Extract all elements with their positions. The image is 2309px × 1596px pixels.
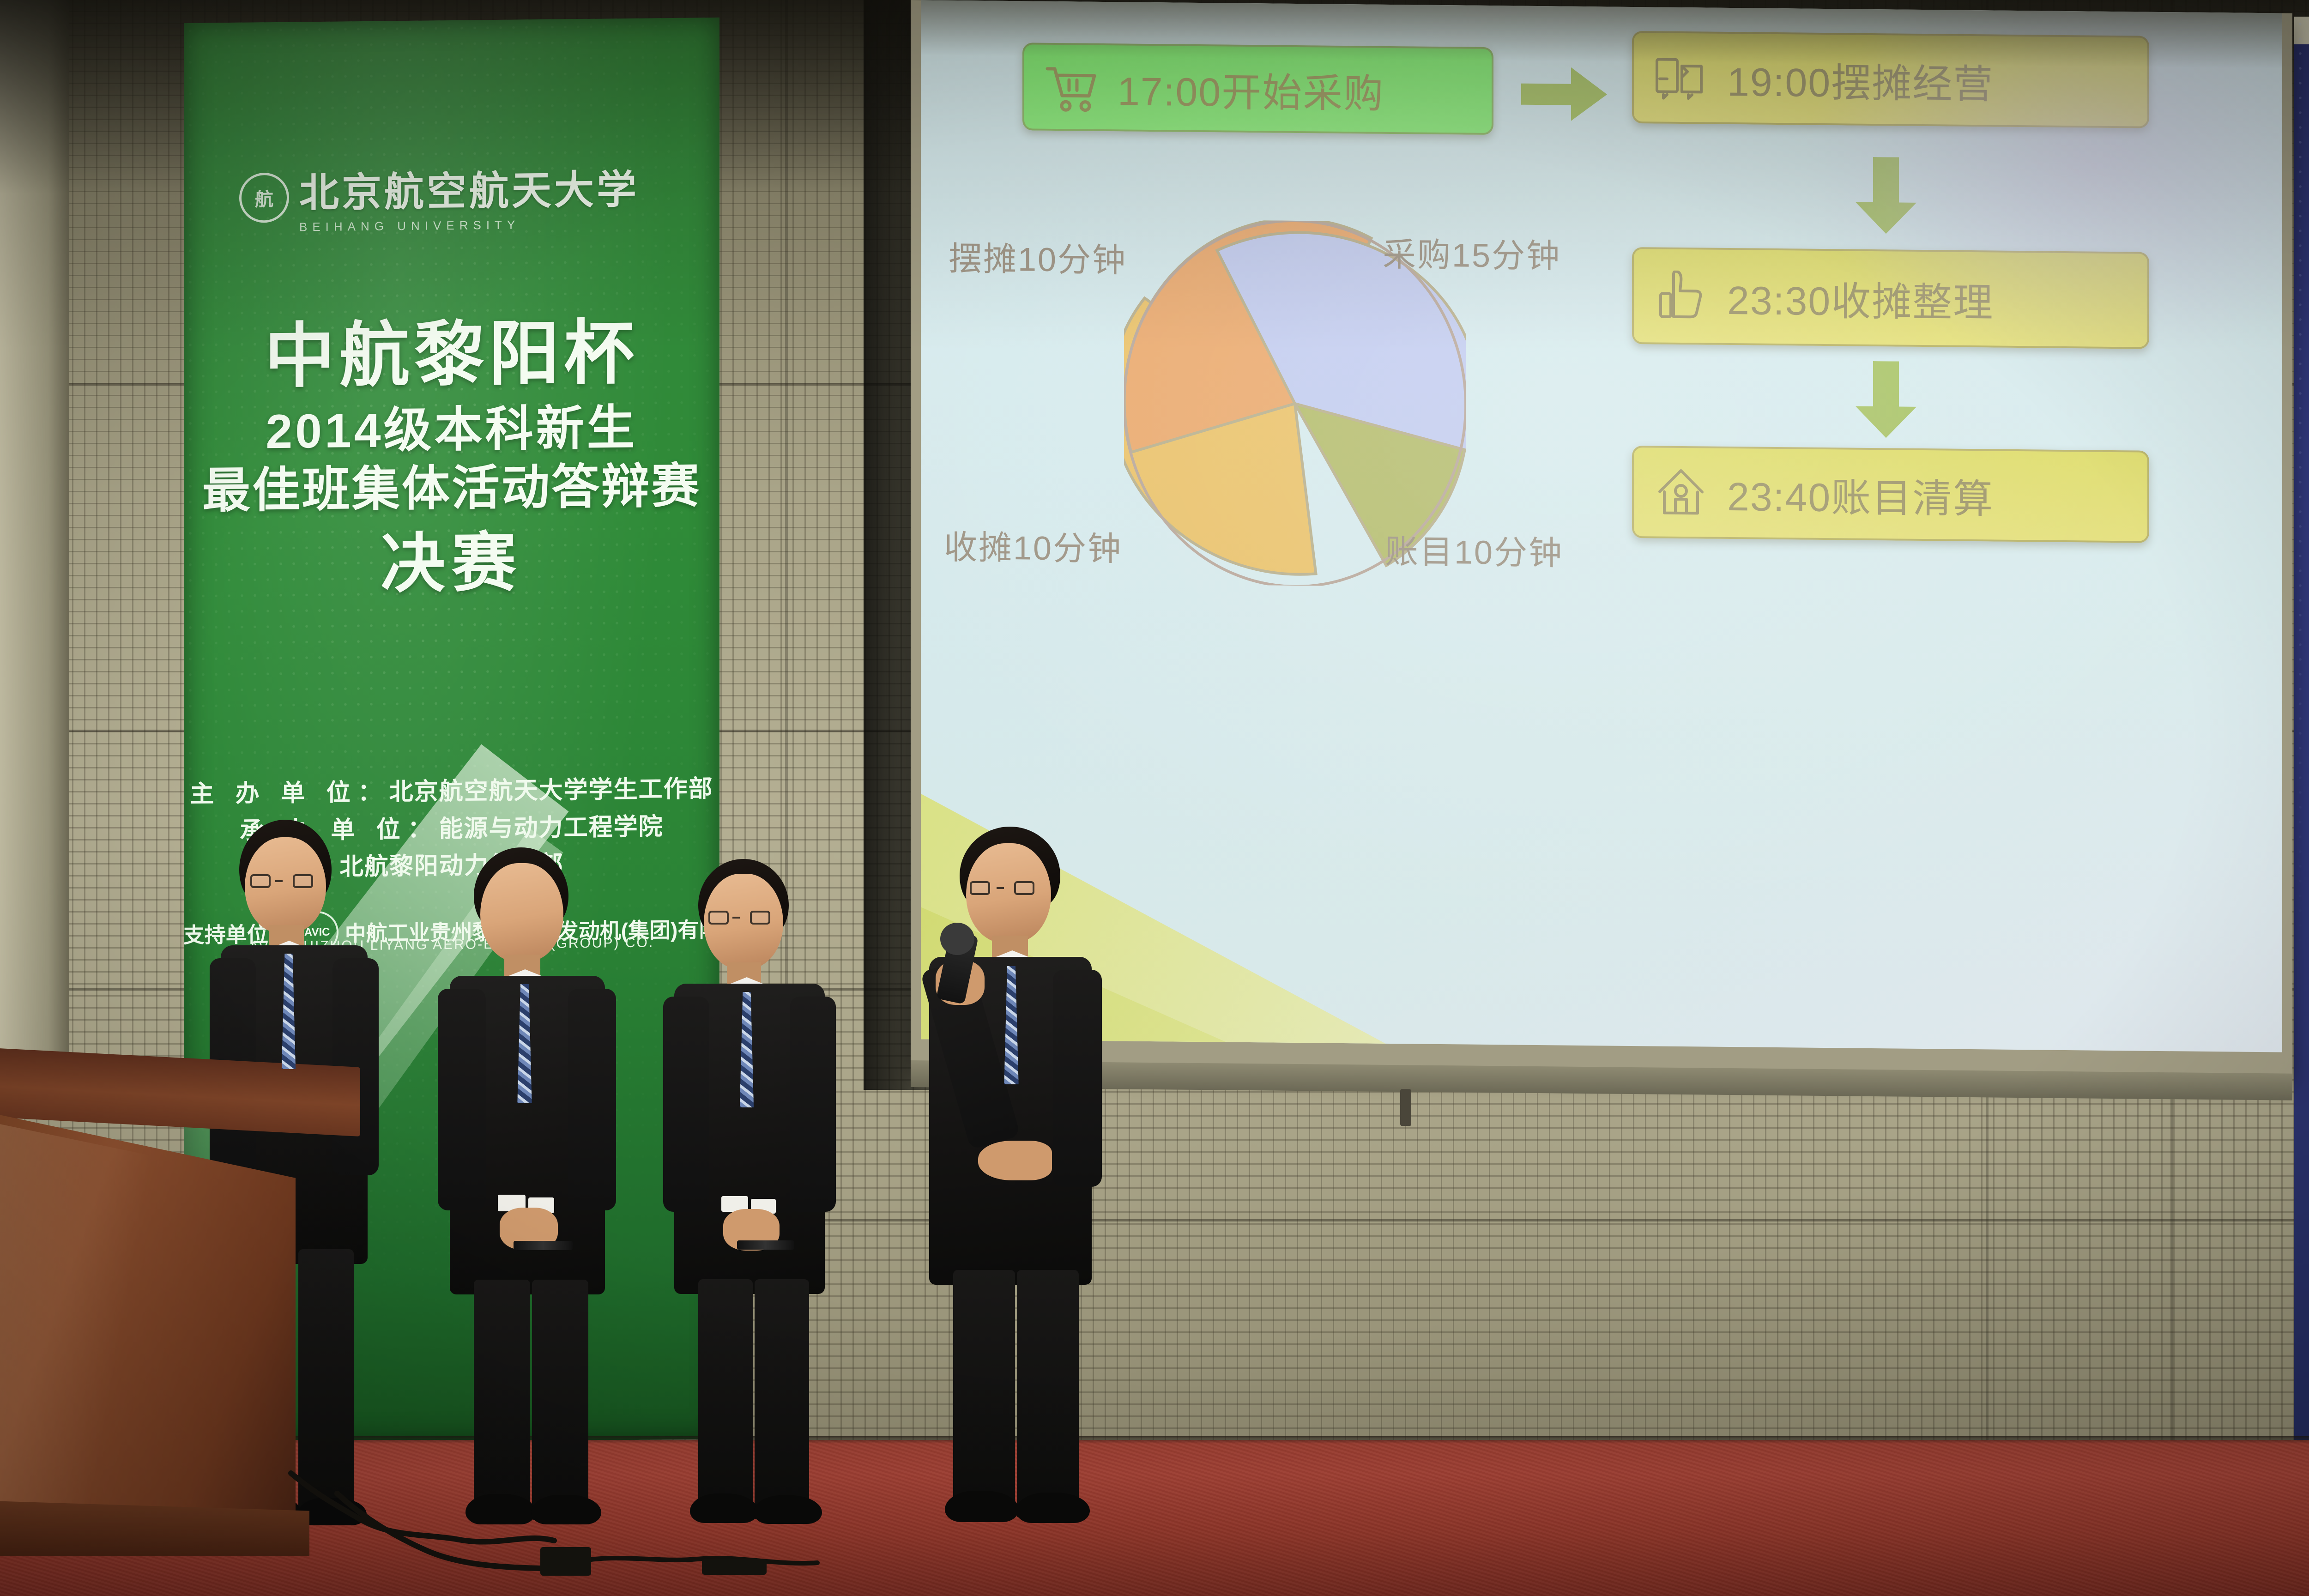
banner-title-line-1: 中航黎阳杯: [184, 313, 719, 397]
thumbs-up-icon: [1653, 270, 1709, 321]
leg-left: [953, 1270, 1015, 1517]
person-team-member-2: [429, 847, 623, 1512]
university-name-cn: 北京航空航天大学: [299, 157, 639, 218]
person-team-member-3: [656, 859, 845, 1510]
organizer-label: 主 办 单 位：: [190, 779, 389, 808]
stage-photo-scene: 航 北京航空航天大学 BEIHANG UNIVERSITY 中航黎阳杯 2014…: [0, 0, 2309, 1596]
slide-chip-settle-accounts: 23:40账目清算: [1632, 446, 2149, 543]
floor-cables: [222, 1464, 868, 1575]
shoe-left: [945, 1491, 1019, 1522]
laser-pointer: [514, 1241, 573, 1250]
host-value: 能源与动力工程学院: [439, 813, 664, 842]
organizer-line: 主 办 单 位：北京航空航天大学学生工作部: [184, 770, 719, 813]
banner-title-line-4: 决赛: [184, 523, 719, 606]
house-icon: [1653, 466, 1709, 518]
arm-left: [438, 989, 486, 1210]
university-seal-icon: 航: [239, 173, 289, 223]
hand-gesture: [978, 1141, 1052, 1180]
glasses-icon: [706, 911, 787, 929]
pie-label-shoutan: 收摊10分钟: [944, 520, 1122, 570]
podium-highlight: [0, 1122, 296, 1519]
banner-title-line-2: 2014级本科新生: [184, 398, 719, 462]
banner-title-block: 中航黎阳杯 2014级本科新生 最佳班集体活动答辩赛 决赛: [184, 313, 719, 606]
slide-chip-label: 17:00开始采购: [1118, 59, 1384, 119]
arrow-right-icon: [1521, 60, 1609, 128]
banner-dot-map-pattern: [2294, 17, 2309, 1467]
leg-right: [1017, 1270, 1079, 1517]
laser-pointer: [737, 1240, 794, 1250]
microphone-head: [940, 923, 974, 955]
cable-connector: [540, 1547, 591, 1576]
screen-roller-handle: [1400, 1089, 1411, 1126]
arm-right: [790, 997, 836, 1212]
arm-right: [568, 989, 616, 1210]
person-speaker-with-microphone: [901, 827, 1122, 1510]
cable-connector: [702, 1559, 767, 1575]
podium-top-surface: [0, 1048, 360, 1137]
pie-label-caigou: 采购15分钟: [1383, 227, 1561, 278]
banner-title-line-3: 最佳班集体活动答辩赛: [184, 457, 719, 521]
head: [480, 863, 563, 962]
arrow-down-icon: [1849, 361, 1923, 441]
university-logo-row: 航 北京航空航天大学 BEIHANG UNIVERSITY: [239, 157, 655, 235]
glasses-icon: [968, 881, 1054, 901]
glasses-icon: [247, 874, 330, 893]
shoe-right: [1016, 1493, 1090, 1523]
arm-right: [1053, 970, 1102, 1187]
organizer-value: 北京航空航天大学学生工作部: [389, 775, 713, 805]
shopping-cart-icon: [1044, 61, 1099, 113]
arm-left: [663, 997, 709, 1212]
side-banner-blue: [2294, 17, 2309, 1467]
pie-label-baitan: 摆摊10分钟: [949, 231, 1127, 282]
university-name-en: BEIHANG UNIVERSITY: [299, 217, 639, 235]
projection-screen-surface: 17:00开始采购: [921, 0, 2282, 1052]
pie-label-zhangmu: 账目10分钟: [1385, 524, 1563, 574]
slide-chip-label: 23:40账目清算: [1727, 464, 1994, 524]
